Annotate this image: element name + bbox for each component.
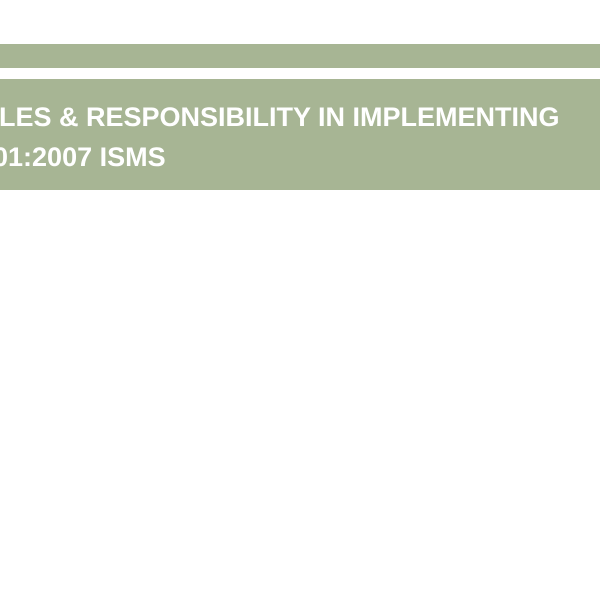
top-accent-bar xyxy=(0,44,600,68)
title-line-2: 001:2007 ISMS xyxy=(0,137,600,177)
title-text-group: OLES & RESPONSIBILITY IN IMPLEMENTING 00… xyxy=(0,97,600,177)
title-banner: OLES & RESPONSIBILITY IN IMPLEMENTING 00… xyxy=(0,79,600,190)
slide-content-area xyxy=(0,190,600,600)
title-line-1: OLES & RESPONSIBILITY IN IMPLEMENTING xyxy=(0,97,600,137)
slide-canvas: OLES & RESPONSIBILITY IN IMPLEMENTING 00… xyxy=(0,0,600,600)
